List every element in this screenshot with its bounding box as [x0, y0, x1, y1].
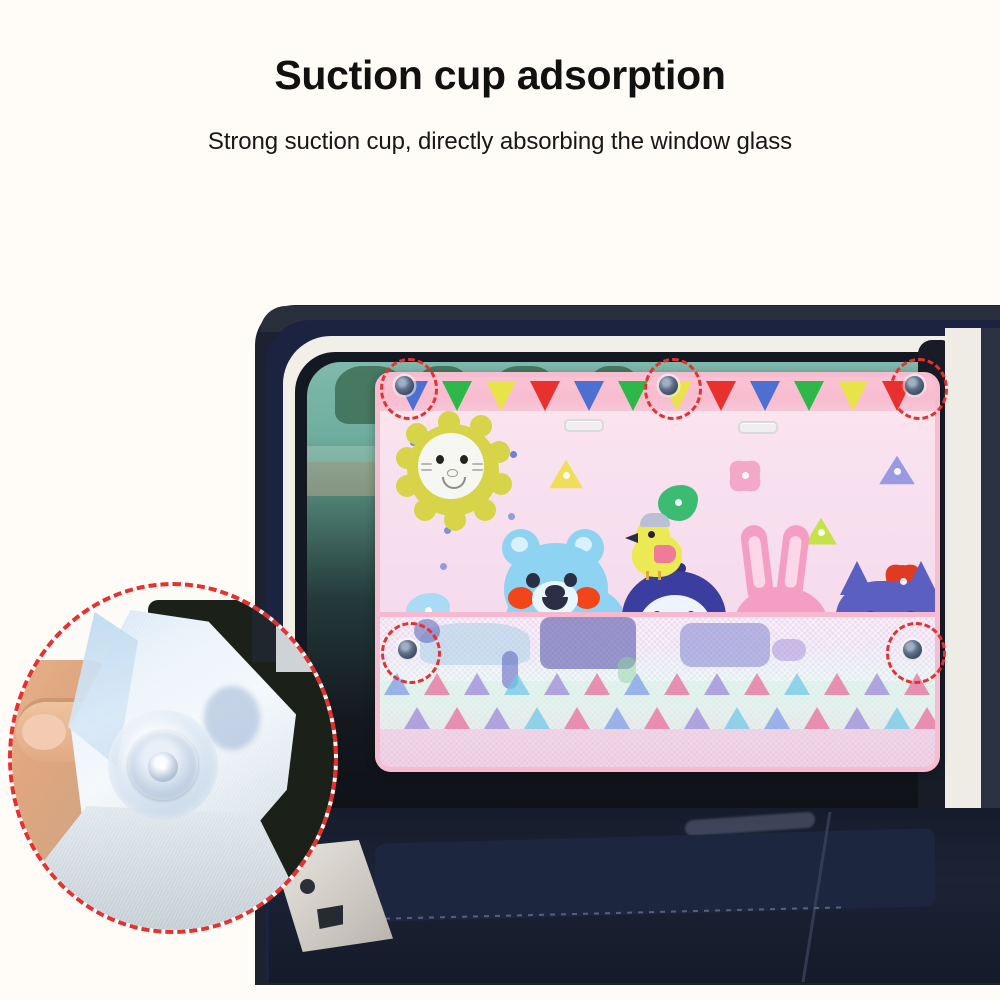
closeup-car-pillar [252, 582, 278, 662]
mesh-ghost-cat [680, 623, 770, 667]
product-photo [255, 300, 1000, 990]
mesh-ghost-shape [772, 639, 806, 661]
product-marketing-image: Suction cup adsorption Strong suction cu… [0, 0, 1000, 1000]
page-subtitle: Strong suction cup, directly absorbing t… [0, 128, 1000, 156]
mesh-pink-band [380, 729, 935, 767]
sunshade-curtain [375, 372, 940, 772]
animal-lion [402, 419, 512, 529]
car-body-right-edge [981, 328, 1000, 833]
mesh-ghost-shape [618, 657, 636, 683]
mesh-pocket [380, 612, 935, 767]
animal-chick [626, 515, 688, 579]
highlight-ring-top-center [644, 358, 702, 420]
closeup-suction-cup-nub [158, 762, 169, 773]
decor-purple-pebble [878, 455, 916, 489]
page-title: Suction cup adsorption [0, 52, 1000, 99]
highlight-ring-top-left [380, 358, 438, 420]
curtain-hook[interactable] [564, 419, 604, 432]
door-armrest [375, 828, 935, 922]
highlight-ring-bottom-left [381, 622, 441, 684]
suction-cup-closeup-inset [8, 582, 338, 934]
thumbnail [22, 714, 66, 750]
decor-pink-flower [730, 461, 760, 491]
closeup-car-body [276, 582, 312, 672]
curtain-hook[interactable] [738, 421, 778, 434]
highlight-ring-top-right [890, 358, 948, 420]
decor-yellow-pebble [548, 459, 584, 493]
decor-confetti-dot [440, 563, 447, 570]
highlight-ring-bottom-right [886, 622, 946, 684]
